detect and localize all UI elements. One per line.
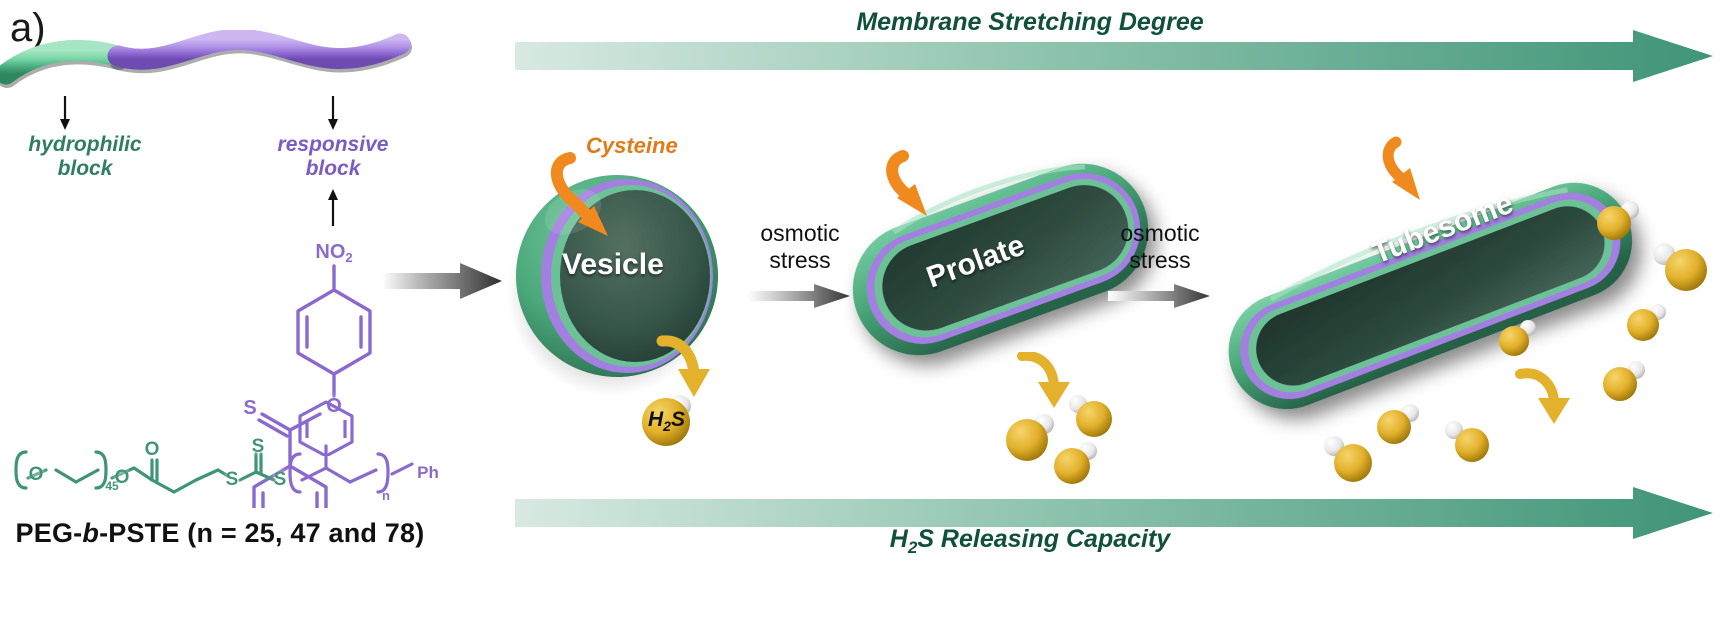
polymer-backbone-structure: O 45 O O S S S n Ph	[0, 420, 450, 520]
h2s-exit-arrow-tubesome	[1512, 368, 1590, 438]
caption-prefix: PEG-	[16, 518, 83, 548]
cysteine-label: Cysteine	[586, 133, 678, 159]
atom-label-sulfur-1: S	[226, 469, 239, 490]
pste-repeat-index: n	[382, 488, 390, 503]
h2s-mol-pre: H	[648, 408, 663, 431]
osmotic2-line2: stress	[1129, 247, 1190, 273]
h2s-molecule	[1048, 440, 1110, 492]
responsive-block-label: responsive block	[268, 133, 398, 180]
osmotic-line1: osmotic	[760, 220, 839, 246]
responsive-pointer-arrow	[318, 96, 358, 132]
atom-label-sulfur-3: S	[274, 469, 287, 490]
h2s-molecule	[1062, 392, 1124, 444]
h2s-mol-sub: 2	[663, 418, 671, 434]
cysteine-entry-arrow-prolate	[885, 140, 975, 230]
atom-label-nitro: NO2	[315, 241, 352, 265]
h2s-molecule	[1492, 316, 1548, 364]
caption-suffix: -PSTE (n = 25, 47 and 78)	[99, 518, 424, 548]
h2s-mol-post: S	[671, 408, 685, 431]
hydrophilic-pointer-arrow	[50, 96, 90, 132]
hydrophilic-label-line2: block	[58, 157, 113, 180]
cysteine-entry-arrow-tubesome	[1382, 128, 1462, 213]
h2s-molecule	[1596, 358, 1656, 408]
h2s-label-post: S Releasing Capacity	[917, 525, 1170, 553]
h2s-molecule	[1370, 400, 1428, 450]
h2s-label-sub: 2	[908, 538, 917, 557]
h2s-releasing-label: H2S Releasing Capacity	[500, 525, 1560, 558]
hydrophilic-label-line1: hydrophilic	[28, 133, 141, 156]
hydrophilic-block-label: hydrophilic block	[20, 133, 150, 180]
caption-italic-b: b	[82, 518, 99, 548]
h2s-molecule	[1316, 432, 1378, 486]
h2s-molecule	[1440, 418, 1500, 468]
h2s-molecule	[1620, 300, 1676, 348]
responsive-block-segment	[118, 39, 400, 59]
atom-label-end-group: Ph	[417, 463, 439, 482]
transition-arrow-2	[1108, 282, 1213, 310]
atom-label-sulfur-2: S	[252, 436, 265, 457]
osmotic2-line1: osmotic	[1120, 220, 1199, 246]
styrene-phenyl-ring	[292, 398, 382, 456]
transition-arrow-1	[748, 282, 853, 310]
h2s-label-pre: H	[890, 525, 908, 553]
responsive-label-line1: responsive	[278, 133, 389, 156]
osmotic-line2: stress	[769, 247, 830, 273]
atom-label-thiocarbonyl-sulfur: S	[243, 397, 256, 419]
h2s-molecule	[1648, 240, 1718, 298]
polymer-formula-caption: PEG-b-PSTE (n = 25, 47 and 78)	[0, 518, 440, 549]
atom-label-carbonyl-o: O	[145, 439, 160, 460]
responsive-label-line2: block	[306, 157, 361, 180]
membrane-stretching-arrow	[515, 30, 1715, 82]
atom-label-peg-oxygen: O	[29, 464, 44, 485]
h2s-molecule-label: H2S	[648, 408, 685, 434]
block-copolymer-ribbon	[0, 30, 420, 100]
atom-label-ester-o: O	[115, 467, 130, 488]
self-assembly-arrow	[382, 258, 507, 304]
h2s-molecule	[1588, 196, 1650, 248]
